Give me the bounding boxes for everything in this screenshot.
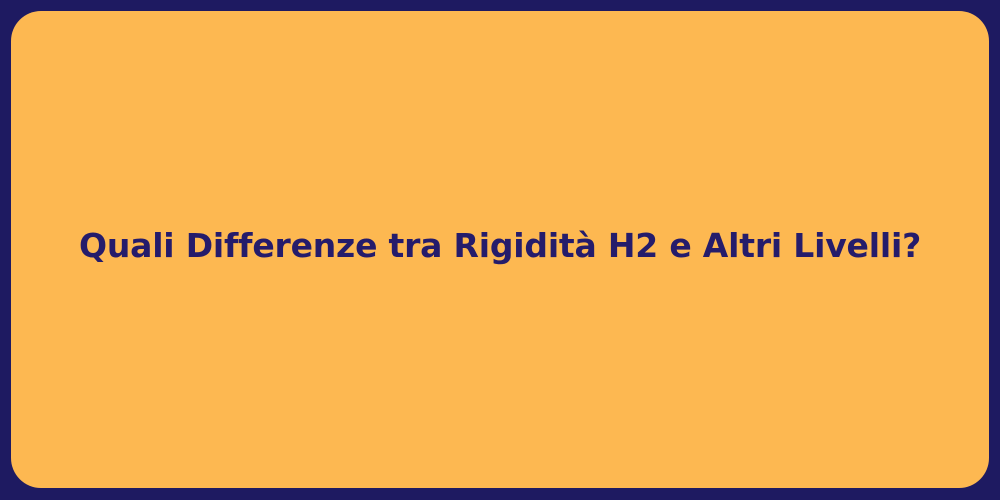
page-background: Quali Differenze tra Rigidità H2 e Altri… xyxy=(0,0,1000,500)
page-title: Quali Differenze tra Rigidità H2 e Altri… xyxy=(39,225,961,266)
content-card: Quali Differenze tra Rigidità H2 e Altri… xyxy=(11,11,989,488)
heading-container: Quali Differenze tra Rigidità H2 e Altri… xyxy=(11,11,989,488)
